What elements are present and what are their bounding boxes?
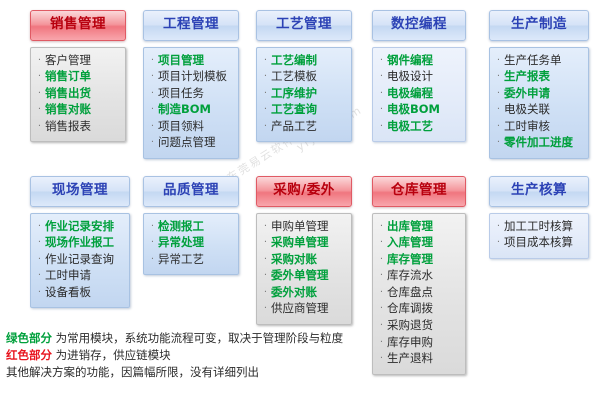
- bullet-icon: ·: [34, 268, 45, 284]
- module-item[interactable]: ·项目领料: [147, 119, 234, 136]
- module-title-sales[interactable]: 销售管理: [30, 10, 126, 41]
- module-title-process[interactable]: 工艺管理: [256, 10, 352, 41]
- module-column-engineering: 工程管理·项目管理·项目计划模板·项目任务·制造BOM·项目领料·问题点管理: [143, 10, 239, 159]
- module-item-list-shopfloor: ·作业记录安排·现场作业报工·作业记录查询·工时申请·设备看板: [34, 219, 125, 302]
- module-item-label: 问题点管理: [158, 135, 216, 151]
- module-item[interactable]: ·加工工时核算: [493, 219, 584, 236]
- module-item-label: 异常工艺: [158, 252, 204, 268]
- module-item-label: 客户管理: [45, 53, 91, 69]
- module-item-label: 工艺查询: [271, 102, 317, 118]
- module-item-label: 委外对账: [271, 285, 317, 301]
- bullet-icon: ·: [493, 219, 504, 235]
- bullet-icon: ·: [376, 119, 387, 135]
- module-item-label: 电极BOM: [387, 102, 440, 118]
- module-item[interactable]: ·问题点管理: [147, 135, 234, 152]
- module-item-list-sales: ·客户管理·销售订单·销售出货·销售对账·销售报表: [34, 53, 121, 136]
- bullet-icon: ·: [376, 53, 387, 69]
- bullet-icon: ·: [493, 235, 504, 251]
- module-item-label: 销售出货: [45, 86, 91, 102]
- bullet-icon: ·: [376, 102, 387, 118]
- module-item-list-engineering: ·项目管理·项目计划模板·项目任务·制造BOM·项目领料·问题点管理: [147, 53, 234, 153]
- bullet-icon: ·: [376, 318, 387, 334]
- module-item[interactable]: ·工艺查询: [260, 102, 347, 119]
- module-item-label: 采购退货: [387, 318, 433, 334]
- module-item-label: 电极工艺: [387, 119, 433, 135]
- legend-red-key: 红色部分: [6, 348, 52, 362]
- module-body-engineering: ·项目管理·项目计划模板·项目任务·制造BOM·项目领料·问题点管理: [143, 47, 239, 160]
- module-item-list-costing: ·加工工时核算·项目成本核算: [493, 219, 584, 252]
- module-title-shopfloor[interactable]: 现场管理: [30, 176, 130, 207]
- bullet-icon: ·: [376, 235, 387, 251]
- module-item[interactable]: ·项目成本核算: [493, 235, 584, 252]
- module-item[interactable]: ·生产报表: [493, 69, 584, 86]
- module-item[interactable]: ·电极设计: [376, 69, 461, 86]
- module-column-cnc: 数控编程·钢件编程·电极设计·电极编程·电极BOM·电极工艺: [372, 10, 466, 142]
- bullet-icon: ·: [260, 219, 271, 235]
- module-item[interactable]: ·仓库盘点: [376, 285, 461, 302]
- bullet-icon: ·: [376, 252, 387, 268]
- module-item[interactable]: ·项目管理: [147, 53, 234, 70]
- module-item-label: 零件加工进度: [504, 135, 573, 151]
- bullet-icon: ·: [376, 219, 387, 235]
- module-column-warehouse: 仓库管理·出库管理·入库管理·库存管理·库存流水·仓库盘点·仓库调拨·采购退货·…: [372, 176, 466, 375]
- module-item-label: 加工工时核算: [504, 219, 573, 235]
- module-item[interactable]: ·销售对账: [34, 102, 121, 119]
- module-item-label: 工时申请: [45, 268, 91, 284]
- module-item-list-cnc: ·钢件编程·电极设计·电极编程·电极BOM·电极工艺: [376, 53, 461, 136]
- module-item[interactable]: ·采购退货: [376, 318, 461, 335]
- module-column-purchasing: 采购/委外·申购单管理·采购单管理·采购对账·委外单管理·委外对账·供应商管理: [256, 176, 352, 325]
- module-item[interactable]: ·工时申请: [34, 268, 125, 285]
- module-item-label: 作业记录安排: [45, 219, 114, 235]
- bullet-icon: ·: [34, 69, 45, 85]
- module-item-label: 销售报表: [45, 119, 91, 135]
- module-item[interactable]: ·作业记录安排: [34, 219, 125, 236]
- module-item-label: 销售对账: [45, 102, 91, 118]
- module-item-list-purchasing: ·申购单管理·采购单管理·采购对账·委外单管理·委外对账·供应商管理: [260, 219, 347, 319]
- bullet-icon: ·: [493, 102, 504, 118]
- module-item-label: 供应商管理: [271, 301, 329, 317]
- module-item[interactable]: ·检测报工: [147, 219, 234, 236]
- module-body-process: ·工艺编制·工艺模板·工序维护·工艺查询·产品工艺: [256, 47, 352, 143]
- module-item[interactable]: ·仓库调拨: [376, 301, 461, 318]
- module-item-label: 设备看板: [45, 285, 91, 301]
- module-body-sales: ·客户管理·销售订单·销售出货·销售对账·销售报表: [30, 47, 126, 143]
- module-item[interactable]: ·电极关联: [493, 102, 584, 119]
- module-item[interactable]: ·异常处理: [147, 235, 234, 252]
- module-item-label: 电极设计: [387, 69, 433, 85]
- module-item[interactable]: ·销售出货: [34, 86, 121, 103]
- module-item[interactable]: ·委外申请: [493, 86, 584, 103]
- module-item-list-manufacturing: ·生产任务单·生产报表·委外申请·电极关联·工时审核·零件加工进度: [493, 53, 584, 153]
- module-item[interactable]: ·采购对账: [260, 252, 347, 269]
- module-title-quality[interactable]: 品质管理: [143, 176, 239, 207]
- module-item-label: 申购单管理: [271, 219, 329, 235]
- module-item-label: 委外申请: [504, 86, 550, 102]
- module-column-manufacturing: 生产制造·生产任务单·生产报表·委外申请·电极关联·工时审核·零件加工进度: [489, 10, 589, 159]
- module-item[interactable]: ·作业记录查询: [34, 252, 125, 269]
- bullet-icon: ·: [260, 268, 271, 284]
- module-body-cnc: ·钢件编程·电极设计·电极编程·电极BOM·电极工艺: [372, 47, 466, 143]
- bullet-icon: ·: [34, 219, 45, 235]
- module-item-label: 库存流水: [387, 268, 433, 284]
- legend-green-key: 绿色部分: [6, 331, 52, 345]
- bullet-icon: ·: [260, 252, 271, 268]
- module-item-label: 钢件编程: [387, 53, 433, 69]
- module-item[interactable]: ·入库管理: [376, 235, 461, 252]
- module-title-purchasing[interactable]: 采购/委外: [256, 176, 352, 207]
- bullet-icon: ·: [147, 119, 158, 135]
- module-item[interactable]: ·设备看板: [34, 285, 125, 302]
- module-body-purchasing: ·申购单管理·采购单管理·采购对账·委外单管理·委外对账·供应商管理: [256, 213, 352, 326]
- legend-green-text: 为常用模块，系统功能流程可变，取决于管理阶段与粒度: [56, 331, 344, 345]
- module-item[interactable]: ·异常工艺: [147, 252, 234, 269]
- module-item-label: 产品工艺: [271, 119, 317, 135]
- module-body-costing: ·加工工时核算·项目成本核算: [489, 213, 589, 259]
- module-item-label: 项目领料: [158, 119, 204, 135]
- legend-row-green: 绿色部分 为常用模块，系统功能流程可变，取决于管理阶段与粒度: [6, 330, 343, 347]
- bullet-icon: ·: [376, 268, 387, 284]
- module-item-label: 销售订单: [45, 69, 91, 85]
- module-item-label: 采购单管理: [271, 235, 329, 251]
- module-item[interactable]: ·出库管理: [376, 219, 461, 236]
- module-item-label: 异常处理: [158, 235, 204, 251]
- module-item[interactable]: ·生产退料: [376, 351, 461, 368]
- module-item[interactable]: ·销售订单: [34, 69, 121, 86]
- module-item[interactable]: ·钢件编程: [376, 53, 461, 70]
- module-item[interactable]: ·供应商管理: [260, 301, 347, 318]
- module-item[interactable]: ·库存申购: [376, 335, 461, 352]
- module-column-quality: 品质管理·检测报工·异常处理·异常工艺: [143, 176, 239, 275]
- module-item[interactable]: ·电极编程: [376, 86, 461, 103]
- module-item-label: 现场作业报工: [45, 235, 114, 251]
- bullet-icon: ·: [147, 219, 158, 235]
- bullet-icon: ·: [34, 285, 45, 301]
- legend-red-text: 为进销存，供应链模块: [56, 348, 171, 362]
- module-title-engineering[interactable]: 工程管理: [143, 10, 239, 41]
- module-item-label: 采购对账: [271, 252, 317, 268]
- module-body-warehouse: ·出库管理·入库管理·库存管理·库存流水·仓库盘点·仓库调拨·采购退货·库存申购…: [372, 213, 466, 375]
- bullet-icon: ·: [34, 252, 45, 268]
- module-item-label: 库存申购: [387, 335, 433, 351]
- module-item[interactable]: ·库存流水: [376, 268, 461, 285]
- bullet-icon: ·: [493, 135, 504, 151]
- module-column-sales: 销售管理·客户管理·销售订单·销售出货·销售对账·销售报表: [30, 10, 126, 142]
- module-item-list-quality: ·检测报工·异常处理·异常工艺: [147, 219, 234, 269]
- bullet-icon: ·: [34, 53, 45, 69]
- module-column-shopfloor: 现场管理·作业记录安排·现场作业报工·作业记录查询·工时申请·设备看板: [30, 176, 130, 308]
- module-item-label: 工序维护: [271, 86, 317, 102]
- module-item-label: 工时审核: [504, 119, 550, 135]
- module-column-costing: 生产核算·加工工时核算·项目成本核算: [489, 176, 589, 259]
- bullet-icon: ·: [34, 102, 45, 118]
- bullet-icon: ·: [493, 53, 504, 69]
- bullet-icon: ·: [376, 285, 387, 301]
- module-item[interactable]: ·采购单管理: [260, 235, 347, 252]
- bullet-icon: ·: [147, 135, 158, 151]
- module-item[interactable]: ·申购单管理: [260, 219, 347, 236]
- bullet-icon: ·: [260, 235, 271, 251]
- module-item[interactable]: ·工艺编制: [260, 53, 347, 70]
- diagram-canvas: 东莞易云软件 yiyun.com 销售管理·客户管理·销售订单·销售出货·销售对…: [0, 0, 600, 400]
- module-column-process: 工艺管理·工艺编制·工艺模板·工序维护·工艺查询·产品工艺: [256, 10, 352, 142]
- module-item-label: 委外单管理: [271, 268, 329, 284]
- bullet-icon: ·: [260, 285, 271, 301]
- bullet-icon: ·: [260, 53, 271, 69]
- module-item-label: 入库管理: [387, 235, 433, 251]
- bullet-icon: ·: [493, 69, 504, 85]
- module-item-label: 电极编程: [387, 86, 433, 102]
- bullet-icon: ·: [493, 119, 504, 135]
- module-item[interactable]: ·电极BOM: [376, 102, 461, 119]
- legend-row-red: 红色部分 为进销存，供应链模块: [6, 347, 343, 364]
- module-item-label: 电极关联: [504, 102, 550, 118]
- module-item-label: 项目计划模板: [158, 69, 227, 85]
- module-item-label: 项目任务: [158, 86, 204, 102]
- module-item[interactable]: ·客户管理: [34, 53, 121, 70]
- module-item[interactable]: ·电极工艺: [376, 119, 461, 136]
- module-item-label: 制造BOM: [158, 102, 211, 118]
- module-item[interactable]: ·项目任务: [147, 86, 234, 103]
- bullet-icon: ·: [147, 69, 158, 85]
- module-item[interactable]: ·工序维护: [260, 86, 347, 103]
- bullet-icon: ·: [260, 86, 271, 102]
- module-item-label: 生产退料: [387, 351, 433, 367]
- module-item[interactable]: ·委外单管理: [260, 268, 347, 285]
- bullet-icon: ·: [376, 301, 387, 317]
- module-title-warehouse[interactable]: 仓库管理: [372, 176, 466, 207]
- legend-row-note: 其他解决方案的功能，因篇幅所限，没有详细列出: [6, 364, 343, 381]
- bullet-icon: ·: [147, 53, 158, 69]
- module-item[interactable]: ·工时审核: [493, 119, 584, 136]
- module-item[interactable]: ·项目计划模板: [147, 69, 234, 86]
- bullet-icon: ·: [147, 102, 158, 118]
- module-item-label: 生产任务单: [504, 53, 562, 69]
- bullet-icon: ·: [147, 252, 158, 268]
- bullet-icon: ·: [34, 119, 45, 135]
- module-item[interactable]: ·制造BOM: [147, 102, 234, 119]
- bullet-icon: ·: [147, 235, 158, 251]
- module-body-quality: ·检测报工·异常处理·异常工艺: [143, 213, 239, 276]
- module-item-label: 检测报工: [158, 219, 204, 235]
- bullet-icon: ·: [260, 102, 271, 118]
- bullet-icon: ·: [376, 335, 387, 351]
- module-item-label: 仓库盘点: [387, 285, 433, 301]
- module-body-shopfloor: ·作业记录安排·现场作业报工·作业记录查询·工时申请·设备看板: [30, 213, 130, 309]
- module-item-label: 项目成本核算: [504, 235, 573, 251]
- module-body-manufacturing: ·生产任务单·生产报表·委外申请·电极关联·工时审核·零件加工进度: [489, 47, 589, 160]
- bullet-icon: ·: [376, 351, 387, 367]
- bullet-icon: ·: [260, 119, 271, 135]
- bullet-icon: ·: [376, 86, 387, 102]
- module-item-label: 出库管理: [387, 219, 433, 235]
- module-item-list-process: ·工艺编制·工艺模板·工序维护·工艺查询·产品工艺: [260, 53, 347, 136]
- module-title-cnc[interactable]: 数控编程: [372, 10, 466, 41]
- module-item-label: 项目管理: [158, 53, 204, 69]
- module-title-costing[interactable]: 生产核算: [489, 176, 589, 207]
- bullet-icon: ·: [34, 235, 45, 251]
- module-item-label: 工艺模板: [271, 69, 317, 85]
- bullet-icon: ·: [260, 301, 271, 317]
- module-item-label: 仓库调拨: [387, 301, 433, 317]
- module-item-label: 库存管理: [387, 252, 433, 268]
- bullet-icon: ·: [260, 69, 271, 85]
- module-item[interactable]: ·销售报表: [34, 119, 121, 136]
- module-item-label: 工艺编制: [271, 53, 317, 69]
- module-item-list-warehouse: ·出库管理·入库管理·库存管理·库存流水·仓库盘点·仓库调拨·采购退货·库存申购…: [376, 219, 461, 368]
- module-item[interactable]: ·现场作业报工: [34, 235, 125, 252]
- module-item[interactable]: ·库存管理: [376, 252, 461, 269]
- legend: 绿色部分 为常用模块，系统功能流程可变，取决于管理阶段与粒度 红色部分 为进销存…: [6, 330, 343, 381]
- module-item[interactable]: ·生产任务单: [493, 53, 584, 70]
- bullet-icon: ·: [34, 86, 45, 102]
- module-item-label: 生产报表: [504, 69, 550, 85]
- module-item[interactable]: ·委外对账: [260, 285, 347, 302]
- module-title-manufacturing[interactable]: 生产制造: [489, 10, 589, 41]
- module-item[interactable]: ·工艺模板: [260, 69, 347, 86]
- bullet-icon: ·: [147, 86, 158, 102]
- module-item[interactable]: ·零件加工进度: [493, 135, 584, 152]
- module-item[interactable]: ·产品工艺: [260, 119, 347, 136]
- bullet-icon: ·: [493, 86, 504, 102]
- module-item-label: 作业记录查询: [45, 252, 114, 268]
- bullet-icon: ·: [376, 69, 387, 85]
